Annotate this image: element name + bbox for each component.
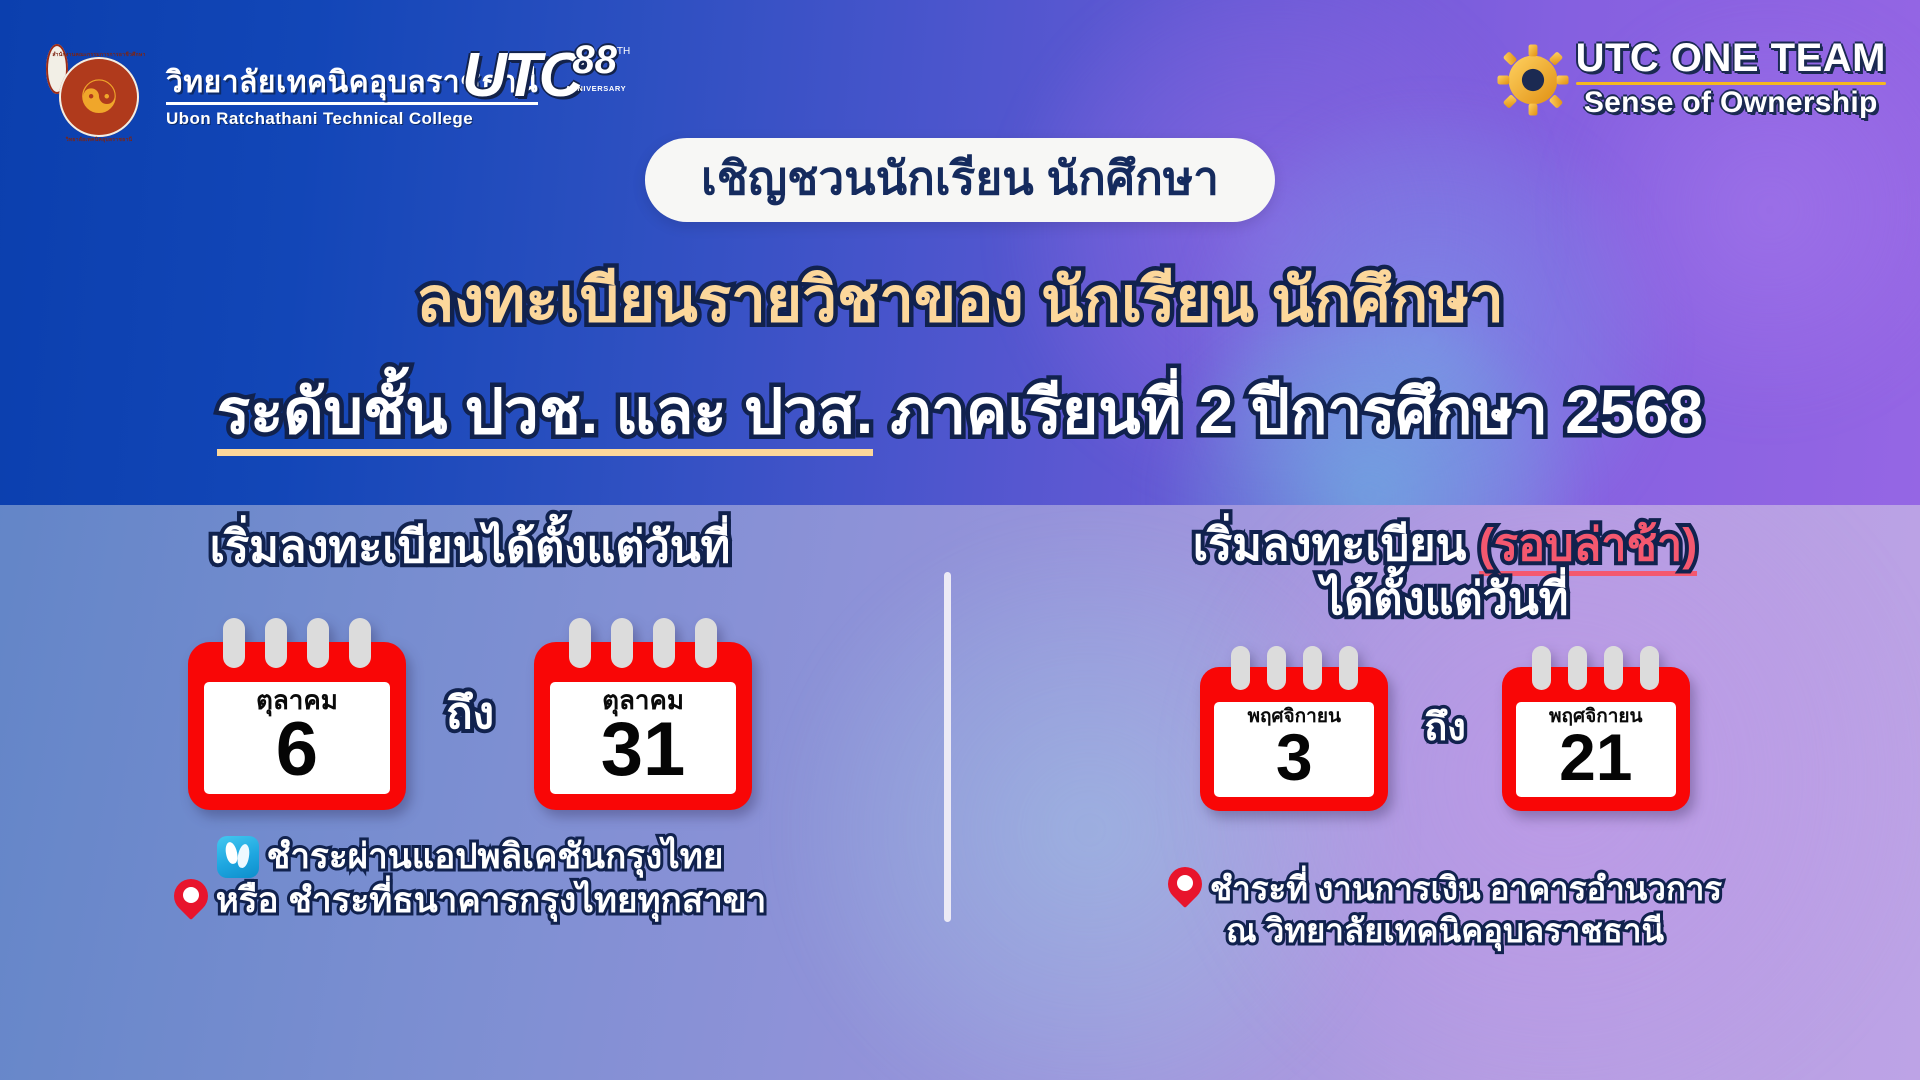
seal-emblem-icon: ☯ xyxy=(78,74,119,120)
calendar-ring xyxy=(1303,646,1322,690)
payment-finance-text: ชำระที่ งานการเงิน อาคารอำนวการ xyxy=(1210,869,1722,909)
right-column: เริ่มลงทะเบียน (รอบล่าช้า) ได้ตั้งแต่วัน… xyxy=(1000,518,1890,951)
calendar-day-number: 21 xyxy=(1520,726,1672,789)
left-column: เริ่มลงทะเบียนได้ตั้งแต่วันที่ ตุลาคม 6 … xyxy=(30,520,910,925)
left-range-connector: ถึง xyxy=(446,692,494,736)
invite-pill: เชิญชวนนักเรียน นักศึกษา xyxy=(645,138,1275,222)
left-calendar-row: ตุลาคม 6 ถึง ตุลาคม 31 xyxy=(30,618,910,810)
location-pin-icon xyxy=(1168,867,1202,913)
one-team-rule xyxy=(1576,82,1886,85)
invite-pill-text: เชิญชวนนักเรียน นักศึกษา xyxy=(701,154,1219,202)
payment-row-finance-office: ชำระที่ งานการเงิน อาคารอำนวการ xyxy=(1000,867,1890,913)
calendar-page: ตุลาคม 6 xyxy=(204,682,390,794)
krungthai-app-icon xyxy=(217,836,259,878)
headline-2-underlined-part: ระดับชั้น ปวช. และ ปวส. xyxy=(217,378,873,456)
right-calendar-row: พฤศจิกายน 3 ถึง พฤศจิกายน 21 xyxy=(1000,646,1890,811)
calendar-ring xyxy=(265,618,287,668)
calendar-ring xyxy=(695,618,717,668)
calendar-rings xyxy=(1200,646,1388,690)
calendar-rings xyxy=(188,618,406,668)
one-team-text-group: UTC ONE TEAM Sense of Ownership xyxy=(1576,38,1886,118)
calendar-day-number: 31 xyxy=(554,714,732,786)
payment-branch-text: หรือ ชำระที่ธนาคารกรุงไทยทุกสาขา xyxy=(216,880,767,923)
calendar-page: ตุลาคม 31 xyxy=(550,682,736,794)
calendar-ring xyxy=(1640,646,1659,690)
utc-wordmark: UTC xyxy=(462,48,580,104)
calendar-page: พฤศจิกายน 3 xyxy=(1214,702,1374,797)
calendar-page: พฤศจิกายน 21 xyxy=(1516,702,1676,797)
utc-88-logo: UTC 88 TH ANNIVERSARY xyxy=(462,48,630,104)
calendar-end-left: ตุลาคม 31 xyxy=(534,618,752,810)
calendar-rings xyxy=(1502,646,1690,690)
calendar-ring xyxy=(1231,646,1250,690)
calendar-ring xyxy=(1267,646,1286,690)
calendar-ring xyxy=(569,618,591,668)
right-section-heading-line-2: ได้ตั้งแต่วันที่ xyxy=(1000,572,1890,626)
right-heading-late-badge: (รอบล่าช้า) xyxy=(1479,519,1697,576)
utc-88-tm: TH xyxy=(617,46,630,57)
calendar-ring xyxy=(1604,646,1623,690)
calendar-ring xyxy=(653,618,675,668)
column-divider xyxy=(944,572,951,922)
calendar-ring xyxy=(1339,646,1358,690)
seal-arc-bottom-text: วิทยาลัยเทคนิคอุบลราชธานี xyxy=(46,136,152,144)
calendar-start-left: ตุลาคม 6 xyxy=(188,618,406,810)
utc-one-team-logo: UTC ONE TEAM Sense of Ownership xyxy=(1496,38,1886,118)
calendar-start-right: พฤศจิกายน 3 xyxy=(1200,646,1388,811)
payment-row-campus: ณ วิทยาลัยเทคนิคอุบลราชธานี xyxy=(1000,911,1890,951)
payment-app-text: ชำระผ่านแอปพลิเคชันกรุงไทย xyxy=(267,836,724,879)
headline-line-1: ลงทะเบียนรายวิชาของ นักเรียน นักศึกษา xyxy=(0,268,1920,333)
right-heading-prefix: เริ่มลงทะเบียน xyxy=(1193,519,1479,570)
calendar-rings xyxy=(534,618,752,668)
calendar-ring xyxy=(349,618,371,668)
calendar-ring xyxy=(1568,646,1587,690)
calendar-day-number: 3 xyxy=(1218,726,1370,789)
location-pin-icon xyxy=(174,879,208,925)
pin-center-dot xyxy=(183,887,199,903)
top-banner: สำนักงานคณะกรรมการการอาชีวศึกษา ☯ วิทยาล… xyxy=(0,0,1920,505)
left-section-heading: เริ่มลงทะเบียนได้ตั้งแต่วันที่ xyxy=(30,520,910,574)
left-payment-notes: ชำระผ่านแอปพลิเคชันกรุงไทย หรือ ชำระที่ธ… xyxy=(30,836,910,925)
headline-line-2: ระดับชั้น ปวช. และ ปวส. ภาคเรียนที่ 2 ปี… xyxy=(0,380,1920,445)
calendar-ring xyxy=(611,618,633,668)
one-team-subtitle: Sense of Ownership xyxy=(1584,88,1878,118)
calendar-ring xyxy=(223,618,245,668)
utc-88-anniversary-label: ANNIVERSARY xyxy=(565,84,626,93)
calendar-ring xyxy=(1532,646,1551,690)
college-seal-icon: สำนักงานคณะกรรมการการอาชีวศึกษา ☯ วิทยาล… xyxy=(46,44,152,150)
right-range-connector: ถึง xyxy=(1424,709,1466,747)
calendar-ring xyxy=(307,618,329,668)
right-section-heading-line-1: เริ่มลงทะเบียน (รอบล่าช้า) xyxy=(1000,518,1890,572)
utc-88-number: 88 xyxy=(572,42,617,78)
headline-2-rest-part: ภาคเรียนที่ 2 ปีการศึกษา 2568 xyxy=(873,378,1703,447)
calendar-end-right: พฤศจิกายน 21 xyxy=(1502,646,1690,811)
calendar-day-number: 6 xyxy=(208,714,386,786)
college-name-en: Ubon Ratchathani Technical College xyxy=(166,110,538,127)
payment-row-branch: หรือ ชำระที่ธนาคารกรุงไทยทุกสาขา xyxy=(30,879,910,925)
gear-icon xyxy=(1496,43,1570,117)
payment-row-app: ชำระผ่านแอปพลิเคชันกรุงไทย xyxy=(30,836,910,879)
right-payment-notes: ชำระที่ งานการเงิน อาคารอำนวการ ณ วิทยาล… xyxy=(1000,867,1890,951)
poster-canvas: สำนักงานคณะกรรมการการอาชีวศึกษา ☯ วิทยาล… xyxy=(0,0,1920,1080)
one-team-title: UTC ONE TEAM xyxy=(1576,38,1886,78)
payment-campus-text: ณ วิทยาลัยเทคนิคอุบลราชธานี xyxy=(1226,911,1664,951)
pin-center-dot xyxy=(1177,875,1193,891)
